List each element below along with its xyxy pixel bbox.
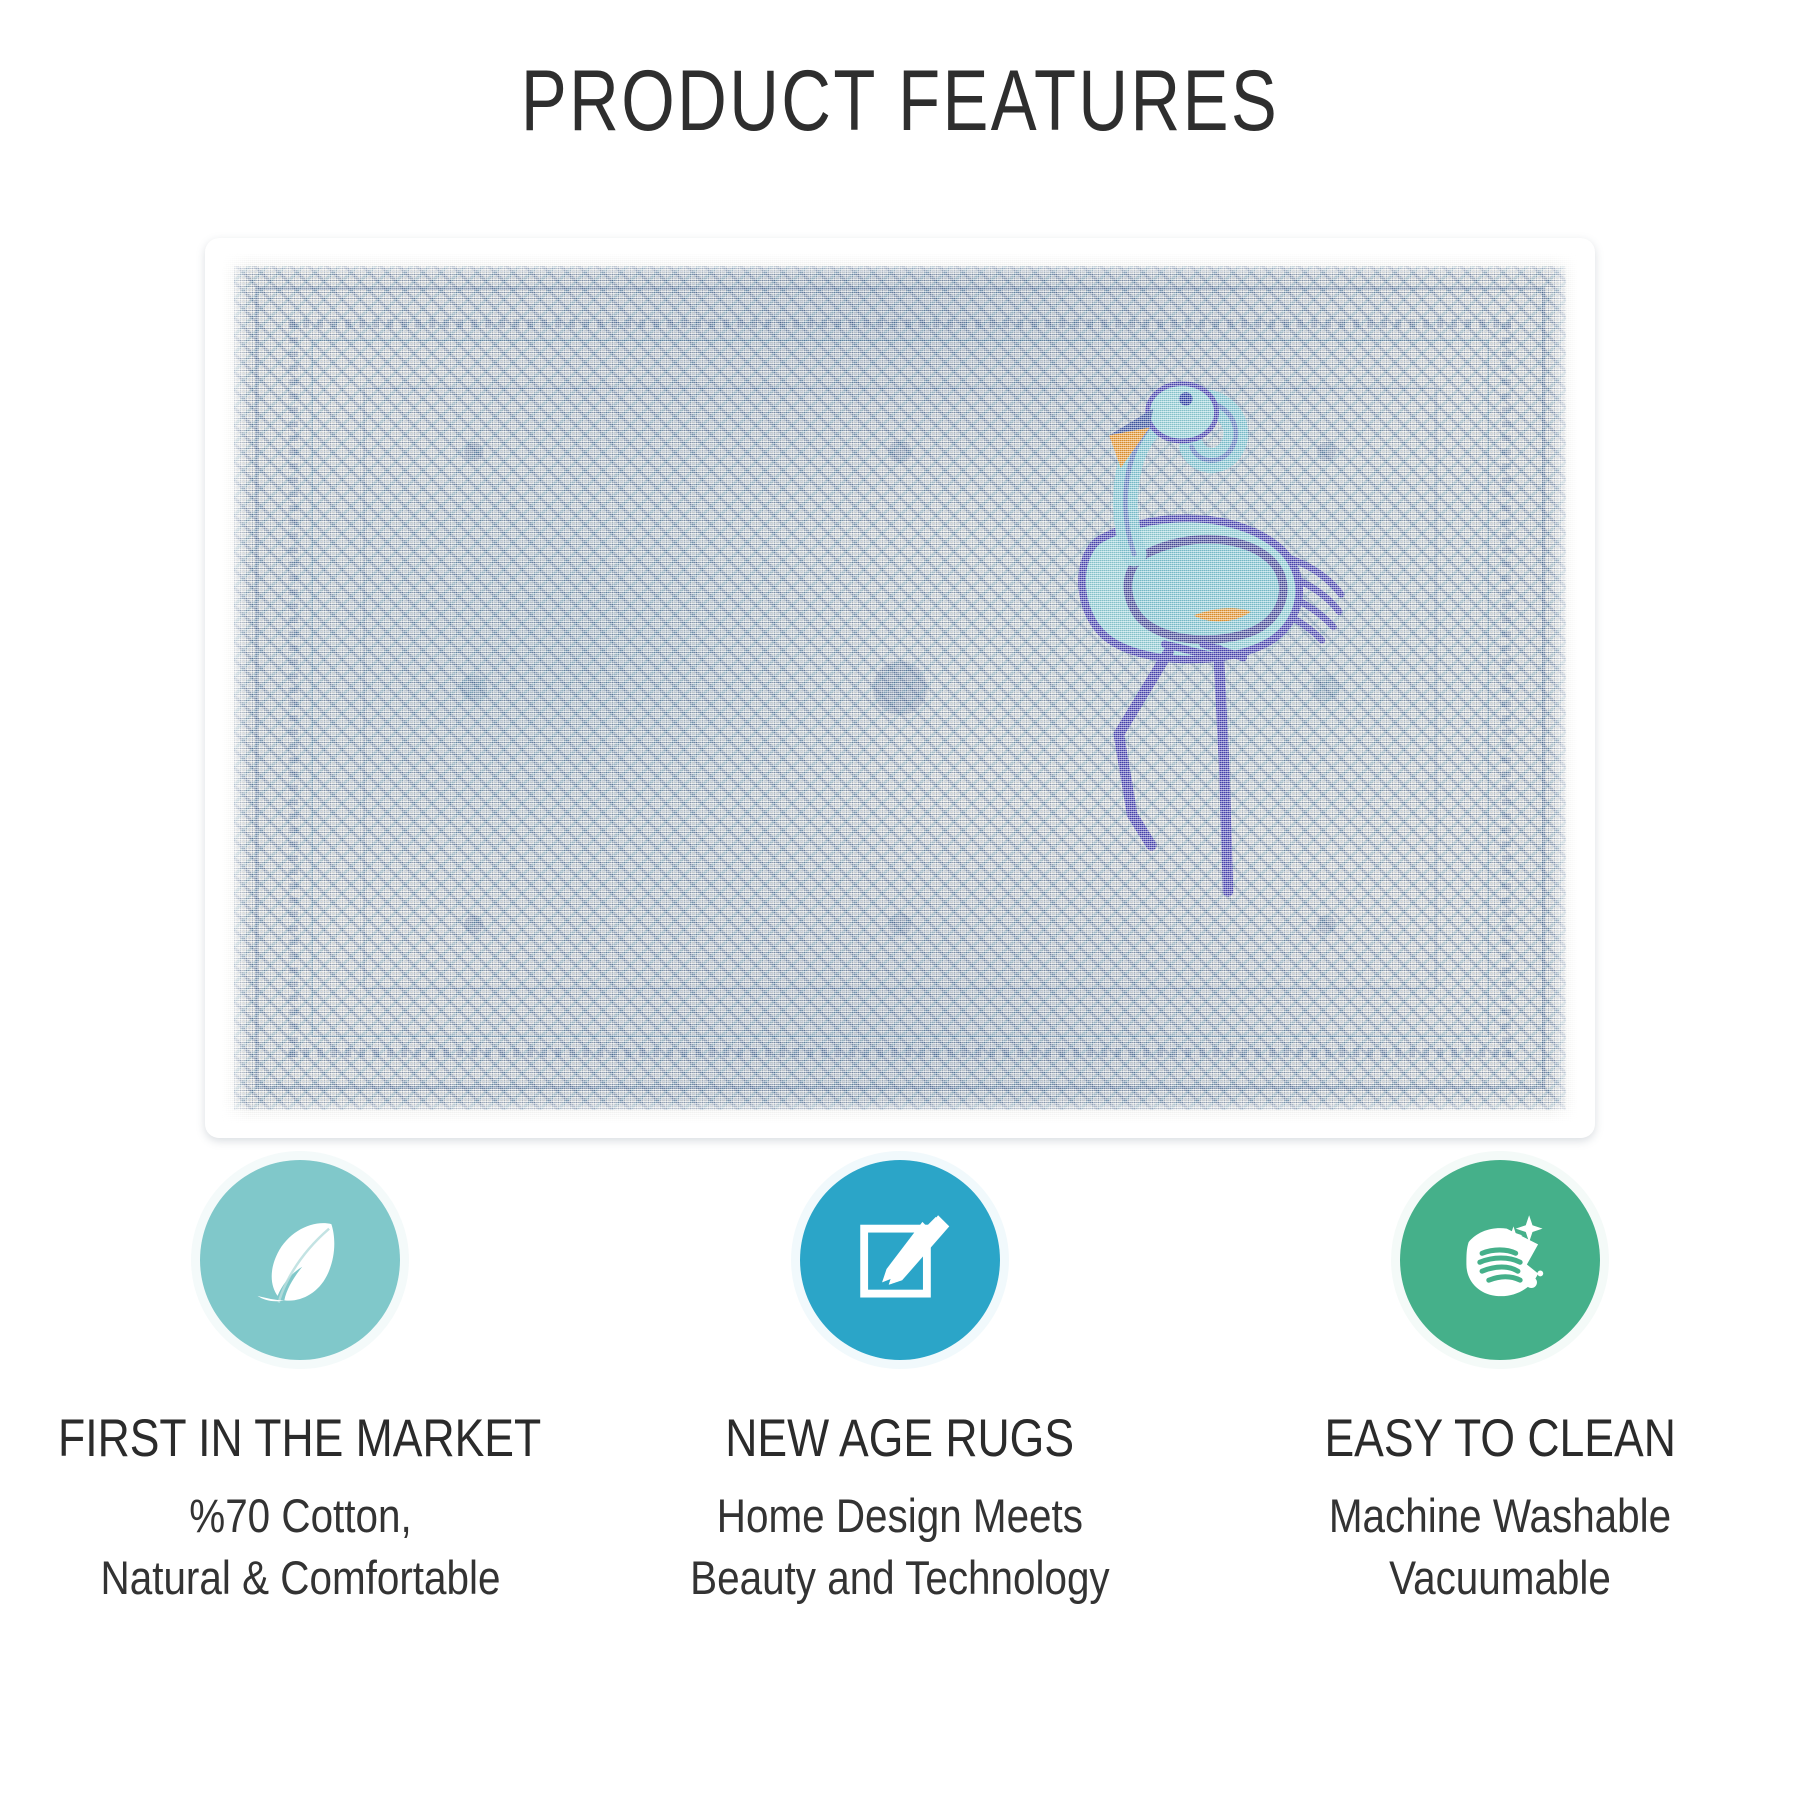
feature-icon-circle-feather [200, 1160, 400, 1360]
hand-wiping-cloth-sparkle-icon [1444, 1204, 1556, 1316]
feature-title: NEW AGE RUGS [726, 1408, 1075, 1469]
feature-icon-circle-design [800, 1160, 1000, 1360]
feature-icon-circle-clean [1400, 1160, 1600, 1360]
feature-subtext: Home Design Meets Beauty and Technology [690, 1485, 1110, 1609]
page-title: PRODUCT FEATURES [180, 52, 1620, 151]
feature-subtext-line2: Beauty and Technology [690, 1547, 1110, 1609]
feature-new-age-rugs: NEW AGE RUGS Home Design Meets Beauty an… [600, 1160, 1200, 1609]
feature-first-in-the-market: FIRST IN THE MARKET %70 Cotton, Natural … [0, 1160, 600, 1609]
feature-subtext-line2: Natural & Comfortable [100, 1547, 500, 1609]
design-pen-square-icon [844, 1204, 956, 1316]
feature-title: EASY TO CLEAN [1324, 1408, 1675, 1469]
feature-subtext-line1: Home Design Meets [717, 1489, 1083, 1542]
feature-subtext: Machine Washable Vacuumable [1329, 1485, 1671, 1609]
feature-subtext-line1: %70 Cotton, [189, 1489, 411, 1542]
feature-title: FIRST IN THE MARKET [58, 1408, 541, 1469]
features-row: FIRST IN THE MARKET %70 Cotton, Natural … [0, 1160, 1800, 1609]
feature-subtext-line1: Machine Washable [1329, 1489, 1671, 1542]
product-image-rug [205, 238, 1595, 1138]
flamingo-icon [928, 328, 1428, 922]
feature-subtext: %70 Cotton, Natural & Comfortable [100, 1485, 500, 1609]
feather-icon [244, 1204, 356, 1316]
feature-subtext-line2: Vacuumable [1329, 1547, 1671, 1609]
feature-easy-to-clean: EASY TO CLEAN Machine Washable Vacuumabl… [1200, 1160, 1800, 1609]
rug-body [205, 238, 1595, 1138]
